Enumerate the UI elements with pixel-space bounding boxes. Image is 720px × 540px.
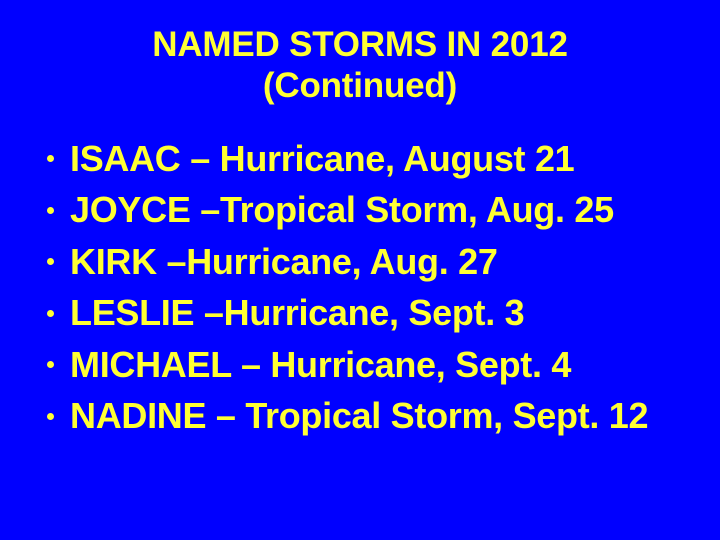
bullet-dot-icon <box>47 413 54 420</box>
list-item-label: JOYCE –Tropical Storm, Aug. 25 <box>70 190 614 230</box>
list-item-label: MICHAEL – Hurricane, Sept. 4 <box>70 345 571 385</box>
list-item-label: KIRK –Hurricane, Aug. 27 <box>70 242 498 282</box>
list-item-label: NADINE – Tropical Storm, Sept. 12 <box>70 396 648 436</box>
storm-bullet-list: ISAAC – Hurricane, August 21 JOYCE –Trop… <box>40 133 700 442</box>
slide-title-line-2: (Continued) <box>0 65 720 106</box>
list-item-label: LESLIE –Hurricane, Sept. 3 <box>70 293 524 333</box>
list-item: NADINE – Tropical Storm, Sept. 12 <box>40 391 700 443</box>
slide-title: NAMED STORMS IN 2012 (Continued) <box>0 24 720 106</box>
bullet-dot-icon <box>47 310 54 317</box>
list-item: KIRK –Hurricane, Aug. 27 <box>40 236 700 288</box>
list-item: MICHAEL – Hurricane, Sept. 4 <box>40 339 700 391</box>
presentation-slide: NAMED STORMS IN 2012 (Continued) ISAAC –… <box>0 0 720 540</box>
list-item-label: ISAAC – Hurricane, August 21 <box>70 139 574 179</box>
bullet-dot-icon <box>47 258 54 265</box>
list-item: ISAAC – Hurricane, August 21 <box>40 133 700 185</box>
list-item: LESLIE –Hurricane, Sept. 3 <box>40 288 700 340</box>
bullet-dot-icon <box>47 207 54 214</box>
slide-title-line-1: NAMED STORMS IN 2012 <box>0 24 720 65</box>
bullet-dot-icon <box>47 155 54 162</box>
bullet-dot-icon <box>47 361 54 368</box>
list-item: JOYCE –Tropical Storm, Aug. 25 <box>40 185 700 237</box>
